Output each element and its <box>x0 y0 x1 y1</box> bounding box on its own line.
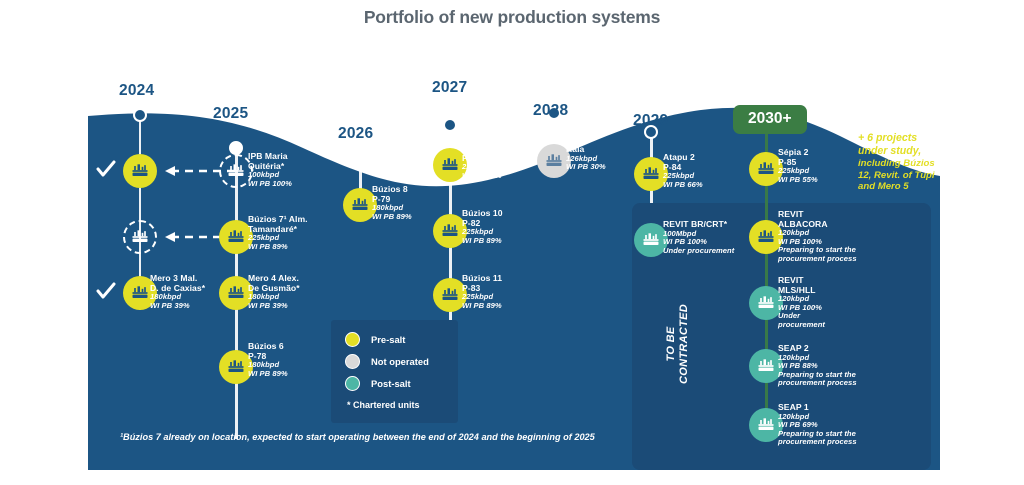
column-dot-2027 <box>443 118 457 132</box>
node-working-interest: WI PB 89% <box>372 213 412 222</box>
to-be-contracted-label: TO BE CONTRACTED <box>665 274 691 414</box>
label-2028-a: Raia 126kbpd WI PB 30% <box>566 145 606 172</box>
legend-label: Post-salt <box>371 378 411 389</box>
label-2027-c: Búzios 11 P-83 225kbpd WI PB 89% <box>462 274 502 310</box>
fpso-vessel-icon <box>350 197 370 213</box>
fpso-vessel-icon <box>440 287 460 303</box>
fpso-vessel-icon <box>226 229 246 245</box>
timeline-canvas: Mero 3 Mal. D. de Caxias* 180kbpd WI PB … <box>88 96 940 470</box>
year-label-2024: 2024 <box>119 82 154 100</box>
label-2030-d: SEAP 2 120kbpd WI PB 88% Preparing to st… <box>778 344 857 388</box>
column-dot-2024 <box>133 108 147 122</box>
footnote: ¹Búzios 7 already on location, expected … <box>120 431 620 443</box>
node-status-line2: procurement process <box>778 438 857 447</box>
year-label-2028: 2028 <box>533 102 568 120</box>
fpso-vessel-icon <box>226 285 246 301</box>
column-dot-2025 <box>229 141 243 155</box>
fpso-vessel-icon <box>226 359 246 375</box>
slide-root: Portfolio of new production systems <box>0 0 1024 485</box>
legend-label: Not operated <box>371 356 429 367</box>
year-label-2026: 2026 <box>338 125 373 143</box>
node-working-interest: WI PB 89% <box>248 370 288 379</box>
node-status-line2: procurement <box>778 321 825 330</box>
legend-item-pre-salt: Pre-salt <box>345 332 444 347</box>
fpso-vessel-icon <box>130 163 150 179</box>
node-status-line2: procurement process <box>778 255 857 264</box>
fpso-vessel-icon <box>226 163 246 179</box>
node-working-interest: WI PB 100% <box>248 180 292 189</box>
year-label-2025: 2025 <box>213 105 248 123</box>
label-2024-c: Mero 3 Mal. D. de Caxias* 180kbpd WI PB … <box>150 274 205 310</box>
node-2024-b-placeholder[interactable] <box>123 220 157 254</box>
label-2027-a: Búzios 9 P-80 225kbpd WI PB 89% <box>462 144 502 180</box>
label-2030-b: REVIT ALBACORA 120kbpd WI PB 100% Prepar… <box>778 210 857 263</box>
label-2029-a: Atapu 2 P-84 225kbpd WI PB 66% <box>663 153 703 189</box>
side-note: + 6 projects under study, including Búzi… <box>858 132 940 193</box>
fpso-vessel-icon <box>756 417 776 433</box>
fpso-vessel-icon <box>130 285 150 301</box>
tbc-line2: CONTRACTED <box>678 304 690 384</box>
fpso-vessel-icon <box>756 229 776 245</box>
legend-label: Pre-salt <box>371 334 405 345</box>
year-badge-2030[interactable]: 2030+ <box>733 105 807 134</box>
node-status-line2: procurement process <box>778 379 857 388</box>
check-icon <box>96 160 116 180</box>
label-2030-a: Sépia 2 P-85 225kbpd WI PB 55% <box>778 148 818 184</box>
fpso-vessel-icon <box>756 295 776 311</box>
node-working-interest: WI PB 39% <box>248 302 300 311</box>
label-2027-b: Búzios 10 P-82 225kbpd WI PB 89% <box>462 209 503 245</box>
fpso-vessel-icon <box>641 166 661 182</box>
side-note-line3: including Búzios <box>858 158 940 170</box>
label-2030-e: SEAP 1 120kbpd WI PB 69% Preparing to st… <box>778 403 857 447</box>
label-2029-b: REVIT BR/CRT* 100Mbpd WI PB 100% Under p… <box>663 220 734 255</box>
fpso-vessel-icon <box>130 229 150 245</box>
legend: Pre-salt Not operated Post-salt * Charte… <box>331 320 458 423</box>
legend-swatch-pre-salt <box>345 332 360 347</box>
tbc-line1: TO BE <box>665 327 677 362</box>
node-working-interest: WI PB 89% <box>462 302 502 311</box>
legend-footer: * Chartered units <box>347 400 444 410</box>
side-note-line2: under study, <box>858 145 940 158</box>
legend-item-not-operated: Not operated <box>345 354 444 369</box>
side-note-line5: and Mero 5 <box>858 181 940 193</box>
check-icon <box>96 282 116 302</box>
node-working-interest: WI PB 66% <box>663 181 703 190</box>
legend-swatch-post-salt <box>345 376 360 391</box>
side-note-line1: + 6 projects <box>858 132 940 145</box>
fpso-vessel-icon <box>544 153 564 169</box>
label-2030-c: REVIT MLS/HLL 120kbpd WI PB 100% Under p… <box>778 276 825 329</box>
fpso-vessel-icon <box>756 358 776 374</box>
label-2025-d: Búzios 6 P-78 180kbpd WI PB 89% <box>248 342 288 378</box>
year-label-2029: 2029 <box>633 112 668 130</box>
fpso-vessel-icon <box>440 223 460 239</box>
node-working-interest: WI PB 89% <box>248 243 308 252</box>
label-2025-a: IPB Maria Quitéria* 100kbpd WI PB 100% <box>248 152 292 188</box>
label-2025-c: Mero 4 Alex. De Gusmão* 180kbpd WI PB 39… <box>248 274 300 310</box>
node-working-interest: WI PB 39% <box>150 302 205 311</box>
column-dot-2026 <box>353 149 367 163</box>
fpso-vessel-icon <box>440 157 460 173</box>
node-working-interest: WI PB 55% <box>778 176 818 185</box>
fpso-vessel-icon <box>641 232 661 248</box>
fpso-vessel-icon <box>756 161 776 177</box>
label-2026-a: Búzios 8 P-79 180kbpd WI PB 89% <box>372 185 412 221</box>
node-working-interest: WI PB 89% <box>462 237 503 246</box>
node-working-interest: WI PB 89% <box>462 172 502 181</box>
legend-swatch-not-operated <box>345 354 360 369</box>
node-status: Under procurement <box>663 247 734 256</box>
label-2025-b: Búzios 7¹ Alm. Tamandaré* 225kbpd WI PB … <box>248 215 308 251</box>
page-title: Portfolio of new production systems <box>0 7 1024 28</box>
node-2024-a[interactable] <box>123 154 157 188</box>
node-working-interest: WI PB 30% <box>566 163 606 172</box>
side-note-line4: 12, Revit. of Tupi <box>858 170 940 182</box>
year-label-2027: 2027 <box>432 79 467 97</box>
legend-item-post-salt: Post-salt <box>345 376 444 391</box>
